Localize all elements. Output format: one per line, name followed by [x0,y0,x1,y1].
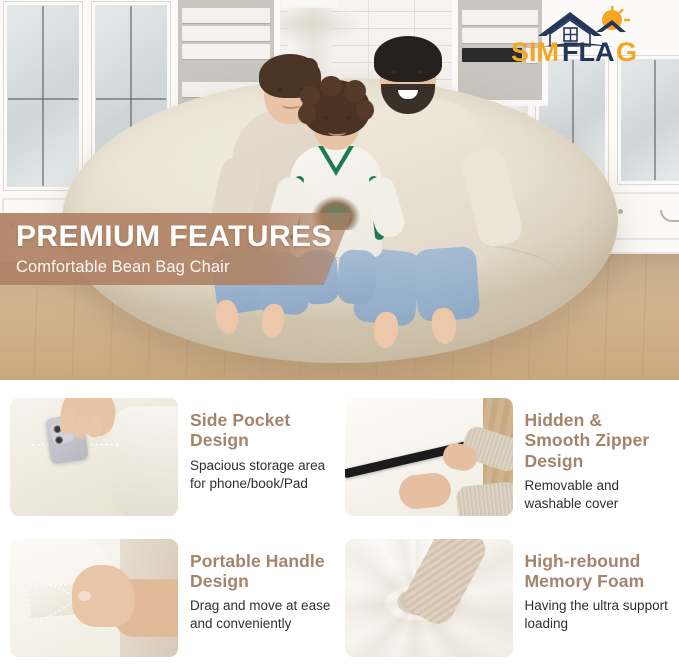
feature-title: Portable Handle Design [190,551,337,592]
feature-description: Drag and move at ease and conveniently [190,597,337,634]
cabinet-glass-pane [618,56,679,184]
child-hair-curl [356,100,374,120]
book-item [182,26,270,41]
child-eye [324,116,329,120]
child-hair-curl [344,80,366,102]
feature-title: High-rebound Memory Foam [525,551,672,592]
feature-title: Hidden & Smooth Zipper Design [525,410,672,471]
book-item [182,8,270,23]
child-smile [328,128,346,136]
svg-text:FLA: FLA [562,37,614,64]
feature-text: Portable Handle Design Drag and move at … [190,539,337,634]
feature-grid: Side Pocket Design Spacious storage area… [0,392,679,669]
feature-text: Hidden & Smooth Zipper Design Removable … [525,398,672,514]
feature-description: Spacious storage area for phone/book/Pad [190,457,337,494]
svg-text:SIM: SIM [511,37,559,64]
mother-eye [277,88,282,92]
mother-hair-bun [300,58,318,76]
feature-description: Removable and washable cover [525,477,672,514]
father-eye [392,70,397,74]
child-hair-curl [320,76,342,96]
book-item [182,44,270,59]
hero-section: SIM FLA G PREMIUM FEATURES Comfortable B… [0,0,679,380]
sleeve [455,481,513,516]
feature-image-portable-handle [10,539,178,657]
child-leg [336,249,378,306]
mullion [96,98,166,100]
father-eye [418,70,423,74]
feature-hidden-zipper: Hidden & Smooth Zipper Design Removable … [345,398,672,521]
child-hair-curl [300,86,320,106]
feature-text: Side Pocket Design Spacious storage area… [190,398,337,493]
child-hair-curl [298,104,316,124]
drawer-knob [618,209,623,214]
father-hair [374,36,442,82]
mullion [8,98,78,100]
banner-subtitle: Comfortable Bean Bag Chair [16,258,352,277]
premium-features-banner: PREMIUM FEATURES Comfortable Bean Bag Ch… [0,213,352,285]
fingernail [78,591,91,601]
feature-image-hidden-zipper [345,398,513,516]
svg-text:G: G [616,37,637,64]
feature-title: Side Pocket Design [190,410,337,451]
feature-text: High-rebound Memory Foam Having the ultr… [525,539,672,634]
feature-side-pocket: Side Pocket Design Spacious storage area… [10,398,337,521]
child-eye [346,116,351,120]
brand-logo: SIM FLA G [508,6,658,64]
feature-description: Having the ultra support loading [525,597,672,634]
mullion [654,60,656,180]
finger [87,415,104,439]
banner-title: PREMIUM FEATURES [16,221,352,253]
feature-image-side-pocket [10,398,178,516]
feature-portable-handle: Portable Handle Design Drag and move at … [10,539,337,662]
feature-image-memory-foam [345,539,513,657]
mullion [42,6,44,186]
mother-smile [281,100,301,109]
feature-memory-foam: High-rebound Memory Foam Having the ultr… [345,539,672,662]
